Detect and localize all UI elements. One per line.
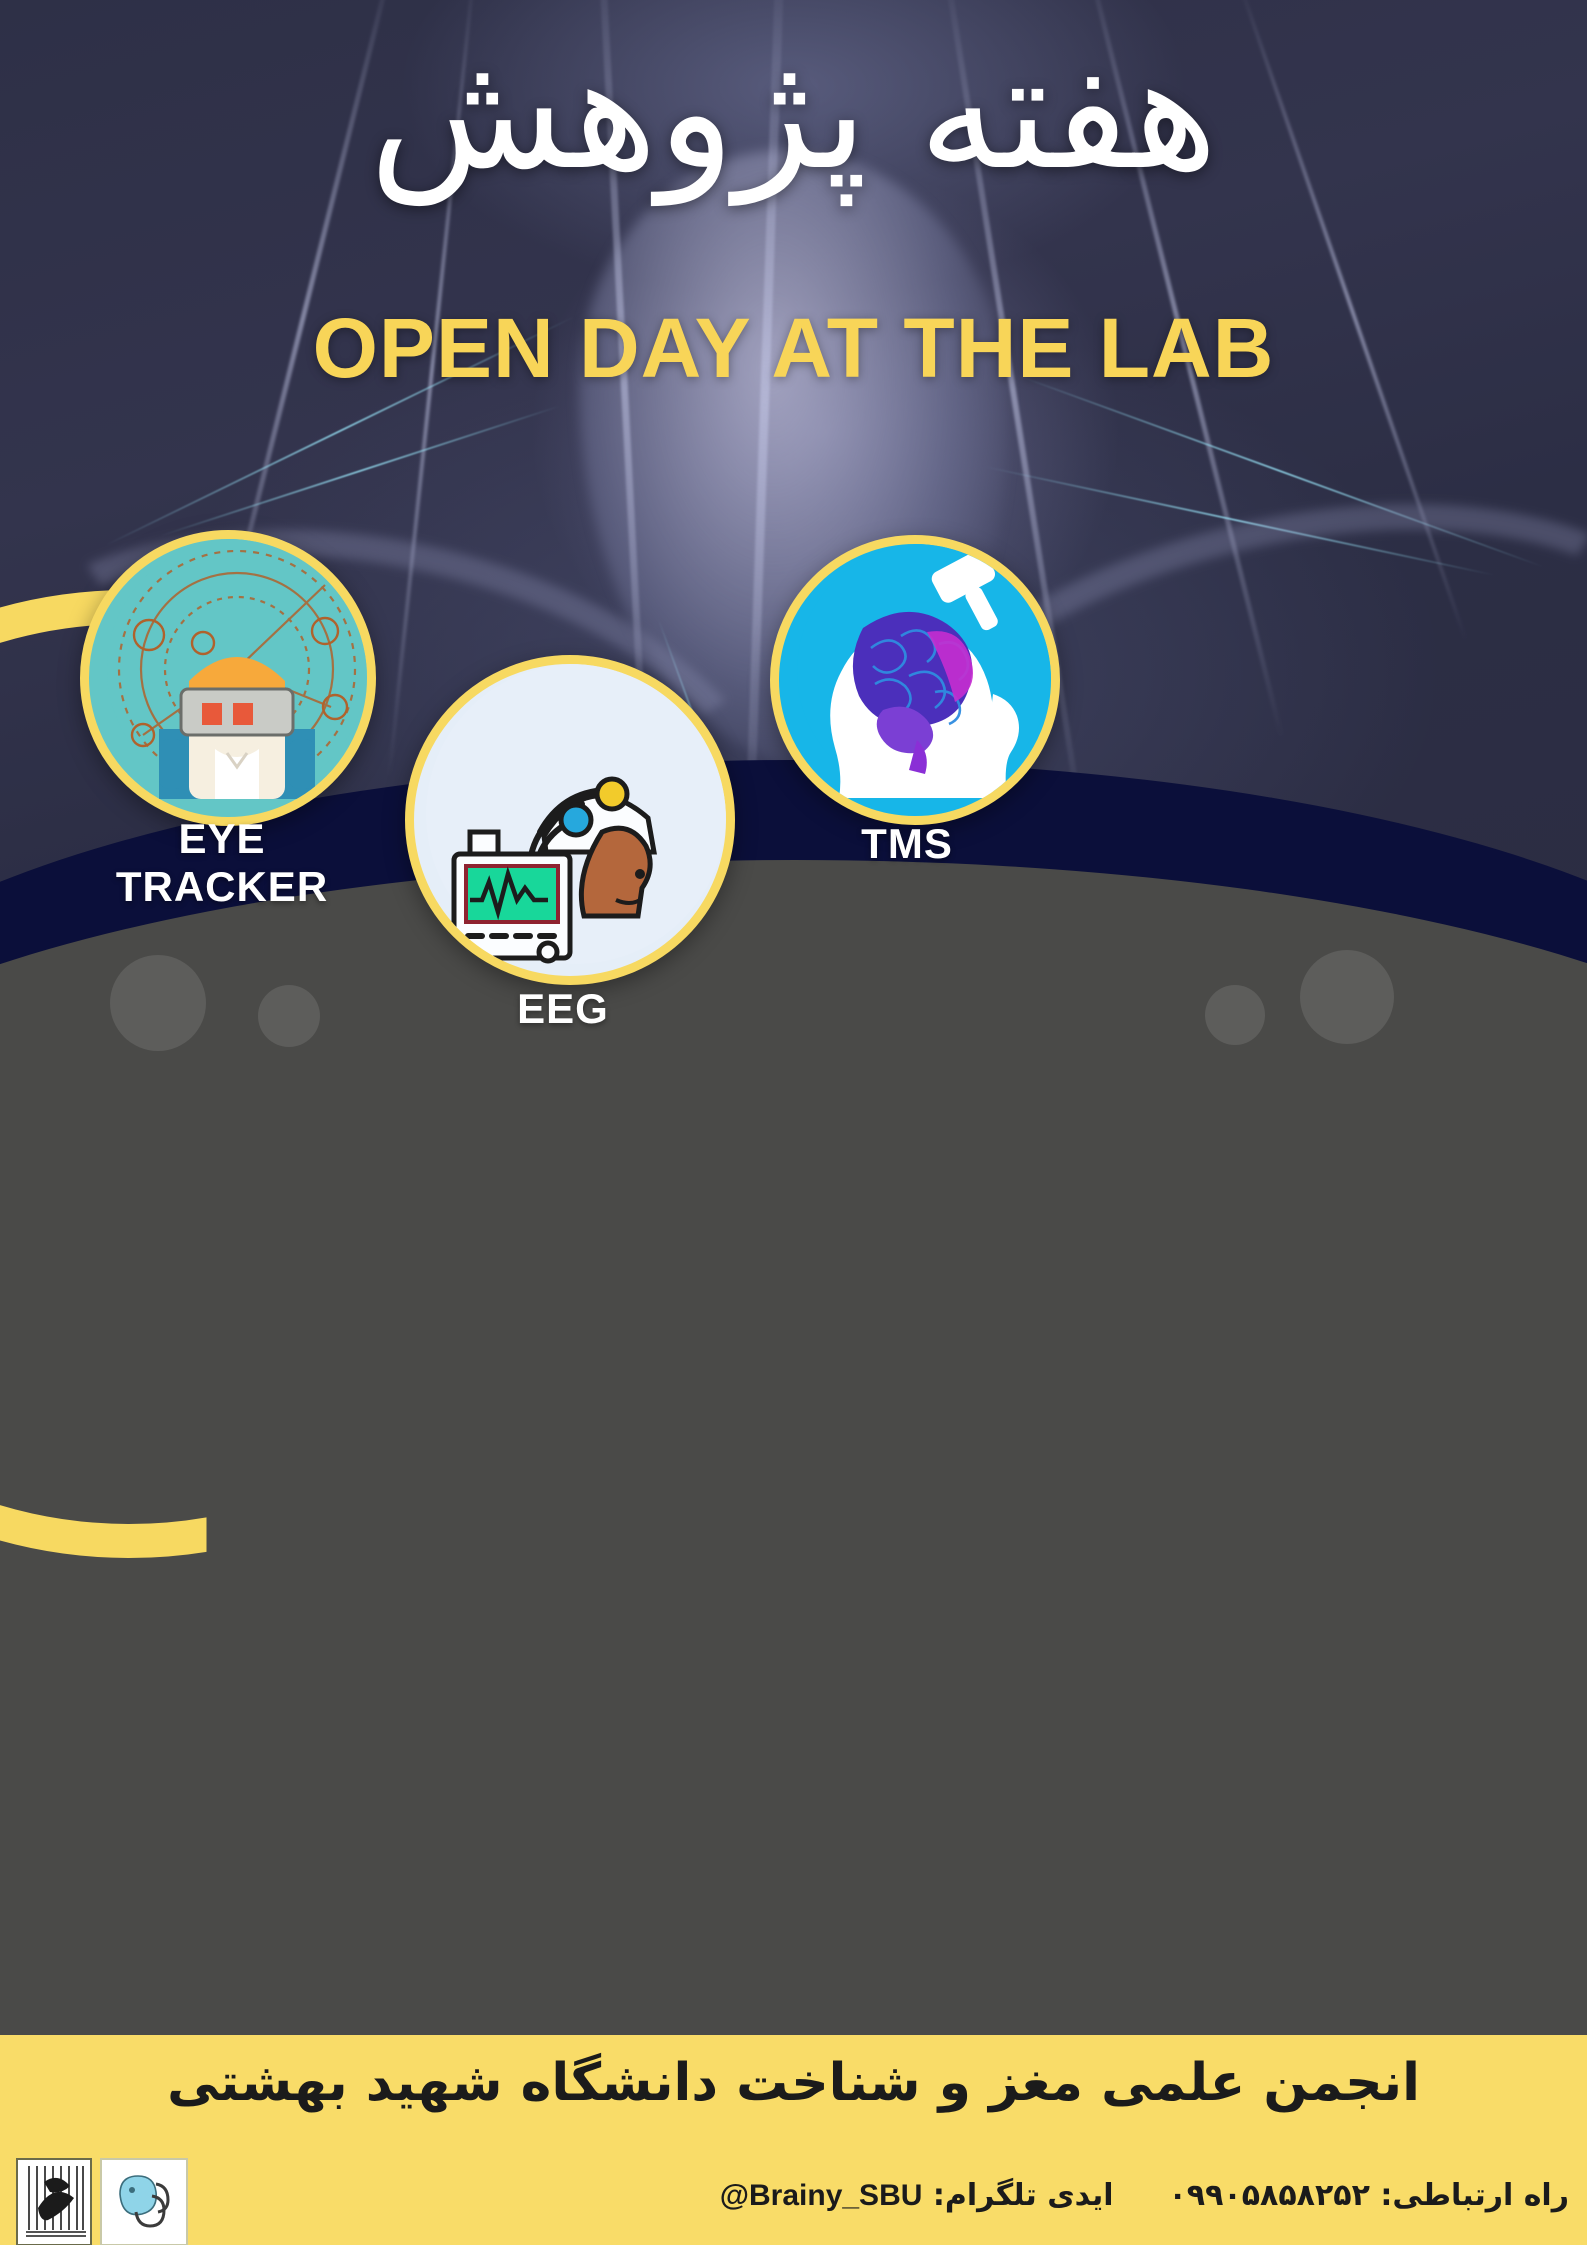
sbu-logo-icon (22, 2160, 90, 2240)
page-title-persian: هفته پژوهش (0, 28, 1587, 196)
eye-tracker-icon (107, 539, 367, 799)
organization-name: انجمن علمی مغز و شناخت دانشگاه شهید بهشت… (0, 2053, 1587, 2113)
decorative-dot (1205, 985, 1265, 1045)
decorative-dot (110, 955, 206, 1051)
association-logo (100, 2158, 188, 2245)
decorative-dot (258, 985, 320, 1047)
decorative-dot (1300, 950, 1394, 1044)
telegram-id[interactable]: @Brainy_SBU (720, 2179, 923, 2213)
contact-label: راه ارتباطی: (1380, 2178, 1569, 2213)
info-section: شنبه ۱۸ آذر ۱۴۰۲ ساعت ۹ الی ۱۲ مکان : پژ… (0, 1090, 1587, 2030)
contact-row: راه ارتباطی: ۰۹۹۰۵۸۵۸۲۵۲ ایدی تلگرام: @B… (720, 2178, 1569, 2213)
eeg-icon (426, 664, 726, 964)
badge-label-eeg: EEG (408, 985, 718, 1033)
contact-phone: ۰۹۹۰۵۸۵۸۲۵۲ (1168, 2178, 1369, 2213)
sbu-university-logo (16, 2158, 92, 2245)
poster-root: هفته پژوهش OPEN DAY AT THE LAB (0, 0, 1587, 2245)
brain-logo-icon (106, 2160, 186, 2240)
badge-eeg[interactable] (405, 655, 735, 985)
page-title-english: OPEN DAY AT THE LAB (0, 300, 1587, 397)
tms-icon (797, 544, 1051, 798)
badge-label-tms: TMS (772, 820, 1042, 868)
badge-tms[interactable] (770, 535, 1060, 825)
badge-label-eye-tracker: EYE TRACKER (72, 815, 372, 911)
neuron-glow-line (160, 405, 560, 537)
badge-eye-tracker[interactable] (80, 530, 376, 826)
telegram-label: ایدی تلگرام: (933, 2178, 1114, 2213)
